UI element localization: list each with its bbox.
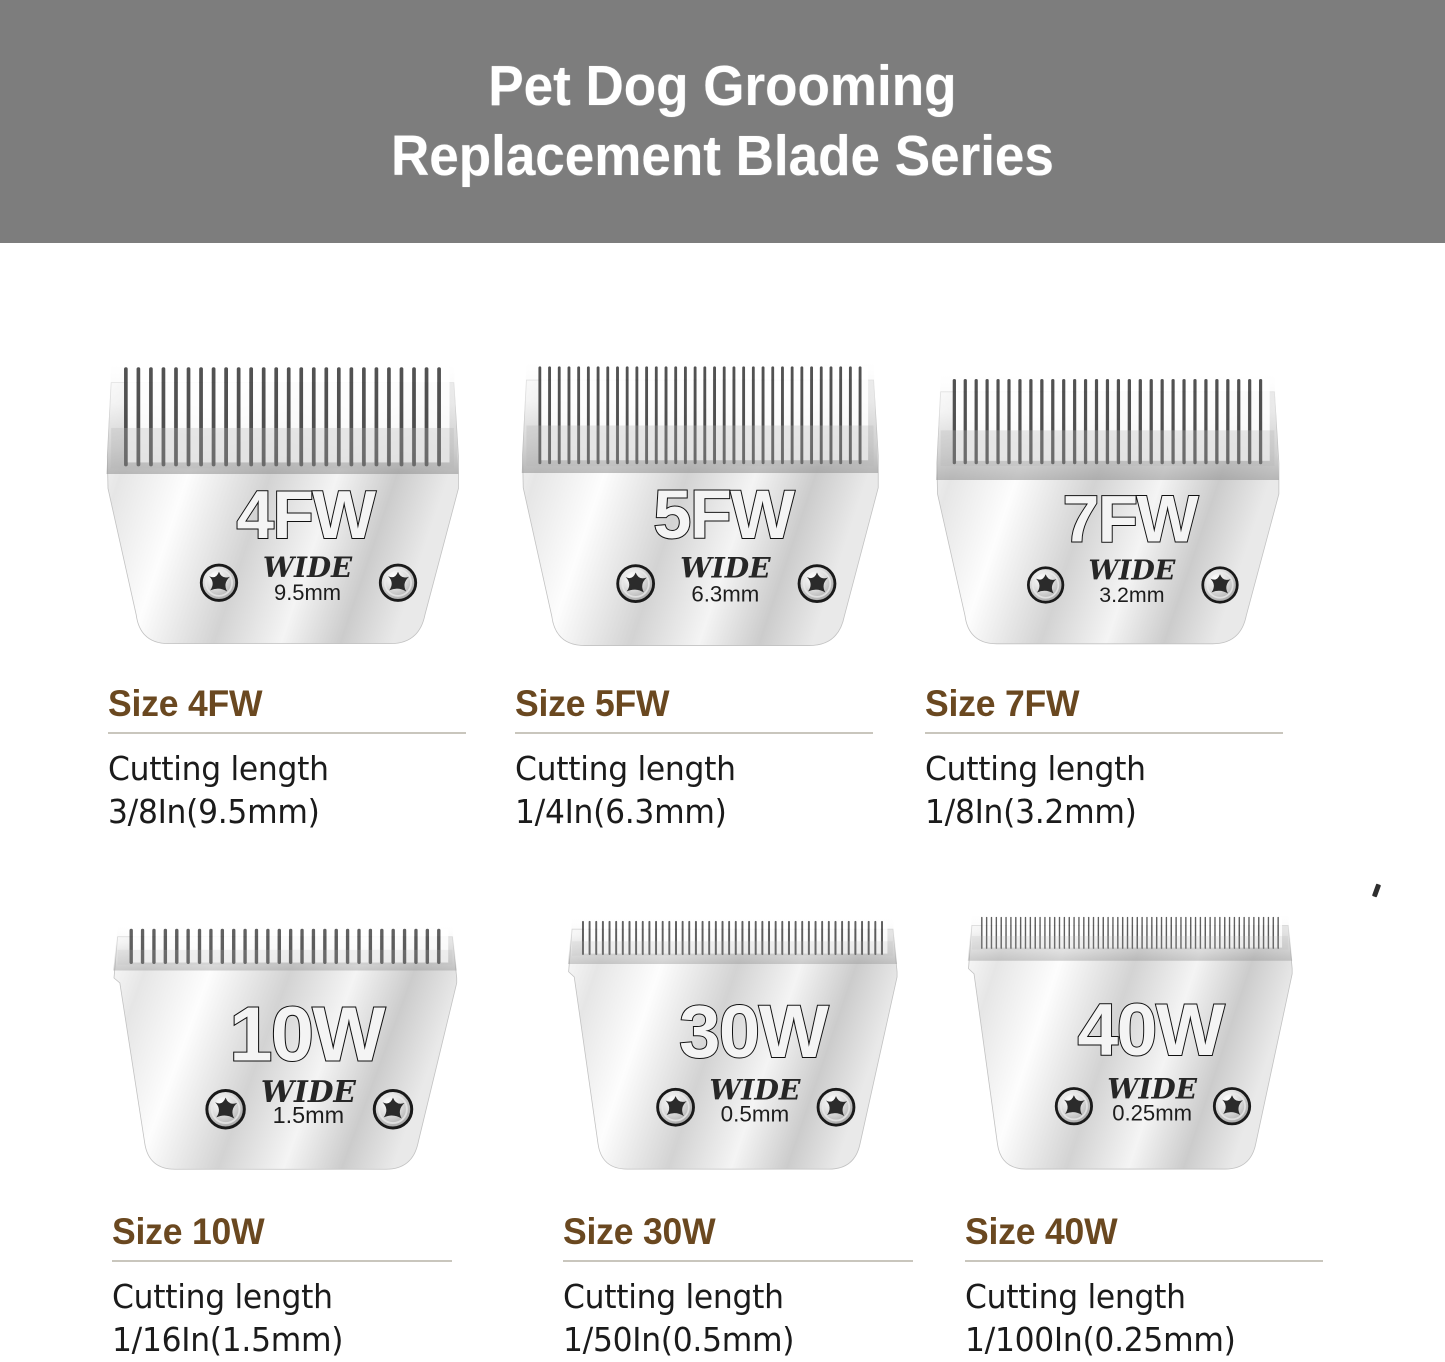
size-heading: Size 5FW [515,683,870,725]
page-title-line-2: Replacement Blade Series [391,122,1054,192]
cutting-length-label: Cutting length [515,749,736,788]
caption-7fw: Size 7FW Cutting length 1/8In(3.2mm) [925,683,1295,834]
svg-text:WIDE: WIDE [680,552,771,585]
cutting-length-label: Cutting length [112,1277,333,1316]
cutting-length-label: Cutting length [925,749,1146,788]
cutting-length-value: 1/100In(0.25mm) [965,1319,1326,1362]
svg-text:0.5mm: 0.5mm [721,1101,789,1126]
blade-image-7fw: 7FWWIDE3.2mm [920,368,1295,648]
cutting-length-value: 3/8In(9.5mm) [108,791,460,834]
blade-illustration: 10WWIDE1.5mm [105,923,465,1173]
cutting-length-text: Cutting length 1/16In(1.5mm) [112,1276,454,1362]
svg-text:9.5mm: 9.5mm [274,580,341,605]
cutting-length-text: Cutting length 1/8In(3.2mm) [925,748,1277,834]
product-cell-10w: 10WWIDE1.5mm Size 10W Cutting length 1/1… [0,883,420,1356]
size-heading: Size 7FW [925,683,1280,725]
svg-text:5FW: 5FW [653,477,795,553]
size-heading: Size 40W [965,1211,1330,1253]
svg-text:WIDE: WIDE [263,551,353,584]
cutting-length-value: 1/8In(3.2mm) [925,791,1277,834]
blade-image-40w: 40WWIDE0.25mm [960,911,1300,1173]
svg-text:1.5mm: 1.5mm [273,1102,345,1128]
caption-divider [925,732,1283,734]
cutting-length-label: Cutting length [108,749,329,788]
svg-text:30W: 30W [679,990,829,1073]
svg-text:7FW: 7FW [1063,483,1199,556]
product-cell-30w: 30WWIDE0.5mm Size 30W Cutting length 1/5… [420,883,820,1356]
product-cell-4fw: 4FWWIDE9.5mm Size 4FW Cutting length 3/8… [0,243,410,883]
caption-40w: Size 40W Cutting length 1/100In(0.25mm) [965,1211,1345,1362]
cutting-length-value: 1/16In(1.5mm) [112,1319,454,1362]
product-row-bottom: 10WWIDE1.5mm Size 10W Cutting length 1/1… [0,883,1445,1356]
svg-text:0.25mm: 0.25mm [1112,1101,1192,1126]
svg-text:4FW: 4FW [237,478,377,553]
size-heading: Size 10W [112,1211,458,1253]
cutting-length-text: Cutting length 1/4In(6.3mm) [515,748,867,834]
blade-illustration: 40WWIDE0.25mm [960,911,1300,1173]
caption-10w: Size 10W Cutting length 1/16In(1.5mm) [112,1211,472,1362]
blade-illustration: 7FWWIDE3.2mm [920,368,1295,648]
cutting-length-label: Cutting length [965,1277,1186,1316]
cutting-length-text: Cutting length 1/100In(0.25mm) [965,1276,1326,1362]
page-header: Pet Dog Grooming Replacement Blade Serie… [0,0,1445,243]
svg-text:40W: 40W [1077,990,1224,1071]
cutting-length-value: 1/4In(6.3mm) [515,791,867,834]
svg-text:6.3mm: 6.3mm [691,581,759,606]
blade-image-10w: 10WWIDE1.5mm [105,923,465,1173]
svg-text:10W: 10W [229,992,385,1078]
svg-text:WIDE: WIDE [1088,555,1175,586]
caption-divider [112,1260,452,1262]
svg-text:3.2mm: 3.2mm [1099,583,1164,607]
caption-divider [965,1260,1323,1262]
product-cell-7fw: 7FWWIDE3.2mm Size 7FW Cutting length 1/8… [820,243,1240,883]
product-grid: 4FWWIDE9.5mm Size 4FW Cutting length 3/8… [0,243,1445,1356]
page-title-line-1: Pet Dog Grooming [488,54,956,118]
product-cell-40w: 40WWIDE0.25mm Size 40W Cutting length 1/… [820,883,1250,1356]
product-row-top: 4FWWIDE9.5mm Size 4FW Cutting length 3/8… [0,243,1445,883]
cutting-length-label: Cutting length [563,1277,784,1316]
product-cell-5fw: 5FWWIDE6.3mm Size 5FW Cutting length 1/4… [410,243,820,883]
page-title: Pet Dog Grooming Replacement Blade Serie… [391,52,1054,191]
cutting-length-text: Cutting length 3/8In(9.5mm) [108,748,460,834]
